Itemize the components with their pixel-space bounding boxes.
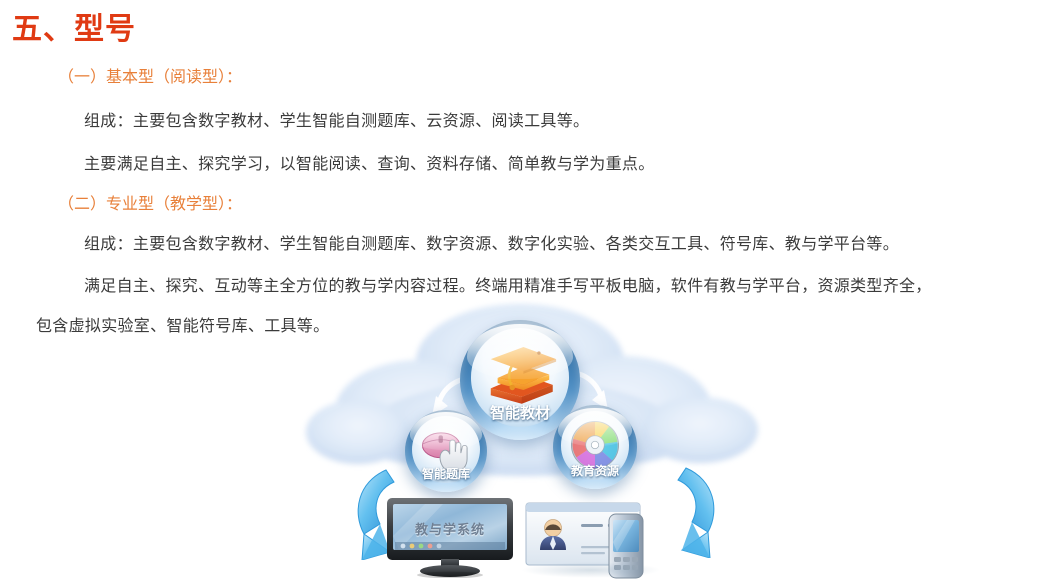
section-heading-basic: （一）基本型（阅读型）： (58, 63, 242, 87)
body-paragraph: 组成：主要包含数字教材、学生智能自测题库、云资源、阅读工具等。 (84, 107, 589, 131)
device-group: 教与学系统 (385, 496, 685, 581)
cloud-architecture-diagram: 智能教材 (300, 300, 770, 581)
body-paragraph: 主要满足自主、探究学习，以智能阅读、查询、资料存储、简单教与学为重点。 (84, 150, 655, 174)
device-monitor[interactable]: 教与学系统 (385, 496, 515, 578)
body-paragraph: 满足自主、探究、互动等主全方位的教与学内容过程。终端用精准手写平板电脑，软件有教… (84, 272, 932, 296)
section-heading-professional: （二）专业型（教学型）： (58, 190, 242, 214)
page-title: 五、型号 (12, 4, 136, 48)
slide-page: 五、型号 （一）基本型（阅读型）： 组成：主要包含数字教材、学生智能自测题库、云… (0, 0, 1060, 581)
node-icon-wrap (561, 411, 630, 480)
graduation-cap-books-icon (477, 335, 563, 421)
compact-disc-icon (564, 414, 626, 476)
device-shadow (521, 562, 661, 578)
body-paragraph: 组成：主要包含数字教材、学生智能自测题库、数字资源、数字化实验、各类交互工具、符… (84, 230, 899, 254)
body-paragraph: 包含虚拟实验室、智能符号库、工具等。 (36, 312, 329, 336)
node-icon-wrap (471, 328, 569, 426)
node-education-resources[interactable]: 教育资源 (553, 405, 637, 489)
lcd-monitor-icon (385, 496, 515, 578)
